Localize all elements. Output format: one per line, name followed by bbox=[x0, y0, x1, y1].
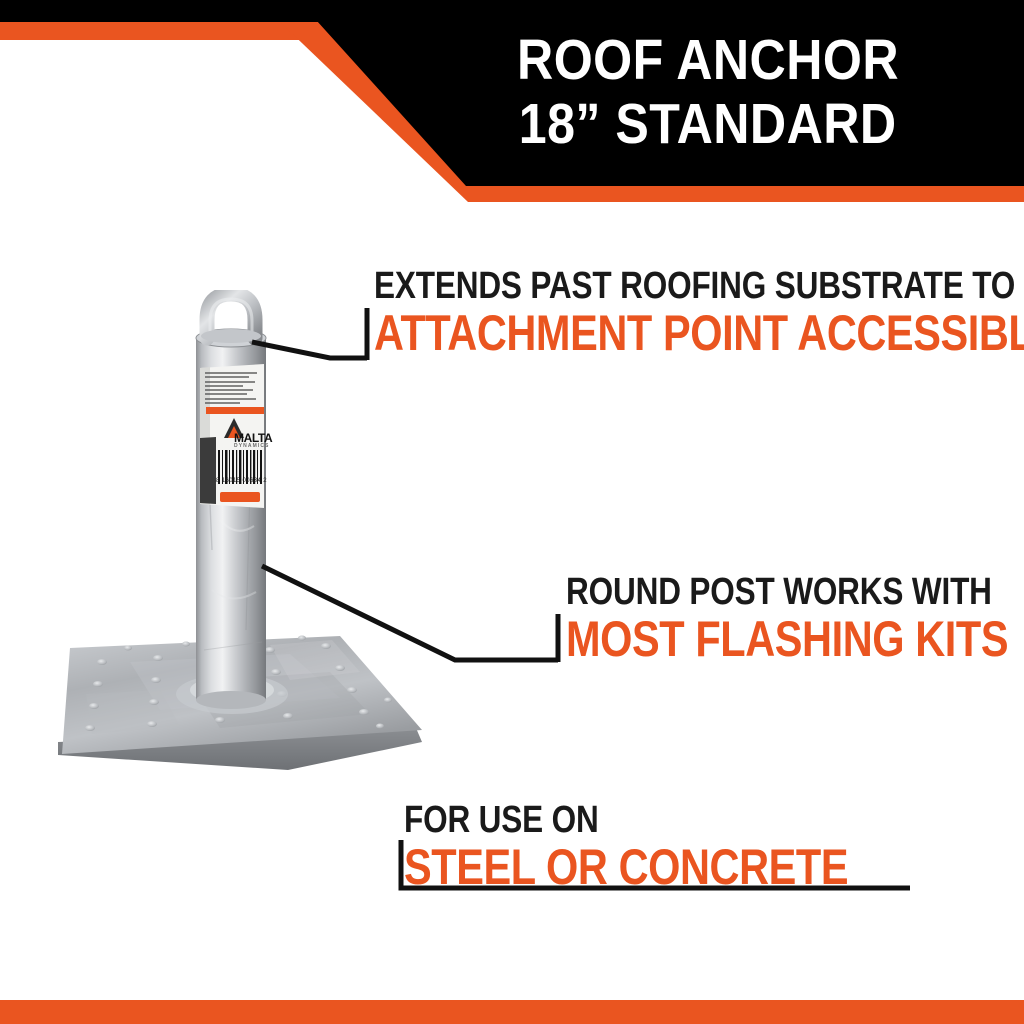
banner-title-group: ROOF ANCHOR 18” STANDARD bbox=[272, 0, 1024, 186]
callout-1-line-bottom: ATTACHMENT POINT ACCESSIBLE bbox=[374, 307, 1024, 360]
brand-sub-wordmark: DYNAMICS bbox=[234, 444, 269, 449]
callout-flashing-kits: ROUND POST WORKS WITH MOST FLASHING KITS bbox=[566, 572, 1024, 666]
banner-title-line-1: ROOF ANCHOR bbox=[517, 29, 899, 93]
callout-steel-or-concrete: FOR USE ON STEEL OR CONCRETE bbox=[404, 800, 939, 894]
callout-1-line-top: EXTENDS PAST ROOFING SUBSTRATE TO MAKE bbox=[374, 266, 1024, 307]
callout-attachment-point: EXTENDS PAST ROOFING SUBSTRATE TO MAKE A… bbox=[374, 266, 1024, 360]
label-fine-print bbox=[205, 372, 263, 410]
barcode-number: 8 16015 00634 2 bbox=[216, 478, 267, 484]
banner-title-line-2: 18” STANDARD bbox=[519, 93, 897, 157]
callout-3-line-bottom: STEEL OR CONCRETE bbox=[404, 841, 848, 894]
bottom-orange-rule bbox=[0, 1000, 1024, 1024]
callout-2-line-bottom: MOST FLASHING KITS bbox=[566, 613, 1008, 666]
product-image bbox=[40, 290, 440, 780]
d-ring bbox=[201, 294, 261, 343]
callout-2-line-top: ROUND POST WORKS WITH bbox=[566, 572, 1008, 613]
callout-3-line-top: FOR USE ON bbox=[404, 800, 848, 841]
